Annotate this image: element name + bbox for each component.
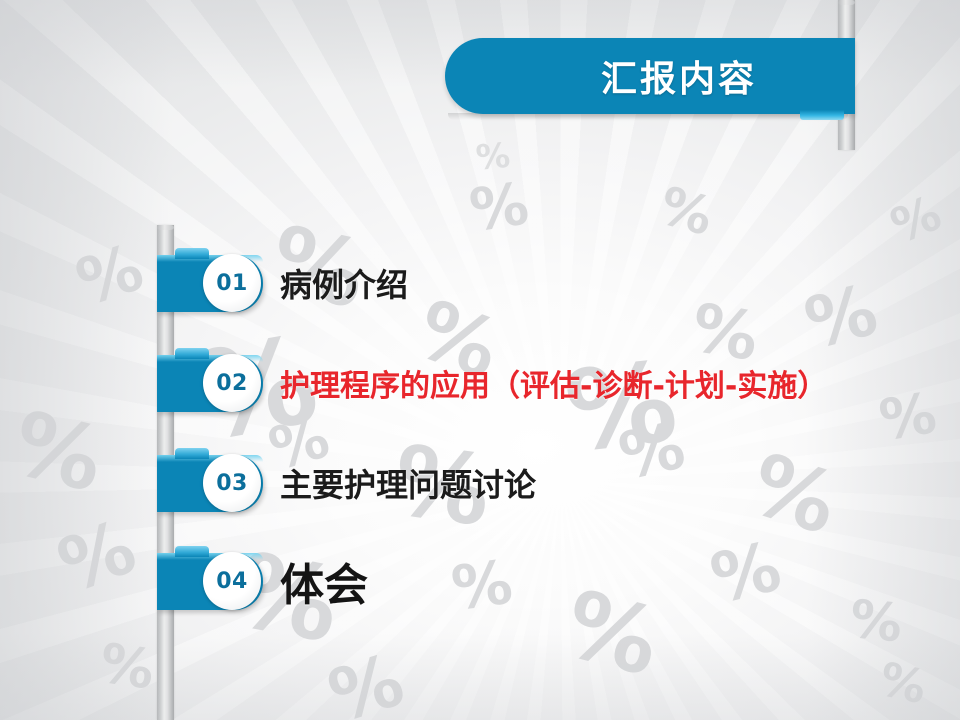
agenda-number: 04 (216, 569, 248, 594)
agenda-number: 01 (216, 271, 248, 296)
agenda-number: 02 (216, 371, 248, 396)
banner-drop-shadow (448, 113, 848, 120)
page-title: 汇报内容 (543, 50, 757, 102)
agenda-item-01[interactable]: 01 病例介绍 (0, 253, 960, 313)
agenda-item-03[interactable]: 03 主要护理问题讨论 (0, 453, 960, 513)
pole-cap (838, 0, 855, 5)
tag-clip (175, 248, 209, 259)
slide-canvas: % % % % % % % % % % % % % % % % % % % % … (0, 0, 960, 720)
pole-cap (157, 225, 174, 230)
agenda-number-badge: 02 (203, 354, 261, 412)
agenda-number-badge: 03 (203, 454, 261, 512)
agenda-item-04[interactable]: 04 体会 (0, 551, 960, 611)
slide-title-banner: 汇报内容 (445, 38, 855, 114)
tag-clip (175, 546, 209, 557)
tag-clip (175, 348, 209, 359)
agenda-item-label: 病例介绍 (280, 260, 408, 306)
agenda-number: 03 (216, 471, 248, 496)
agenda-number-badge: 01 (203, 254, 261, 312)
agenda-item-02[interactable]: 02 护理程序的应用（评估-诊断-计划-实施） (0, 353, 960, 413)
agenda-item-label: 护理程序的应用（评估-诊断-计划-实施） (280, 361, 827, 405)
agenda-item-label: 主要护理问题讨论 (280, 460, 536, 506)
tag-clip (175, 448, 209, 459)
agenda-number-badge: 04 (203, 552, 261, 610)
agenda-item-label: 体会 (280, 549, 368, 613)
banner-fold-tab (800, 110, 844, 120)
